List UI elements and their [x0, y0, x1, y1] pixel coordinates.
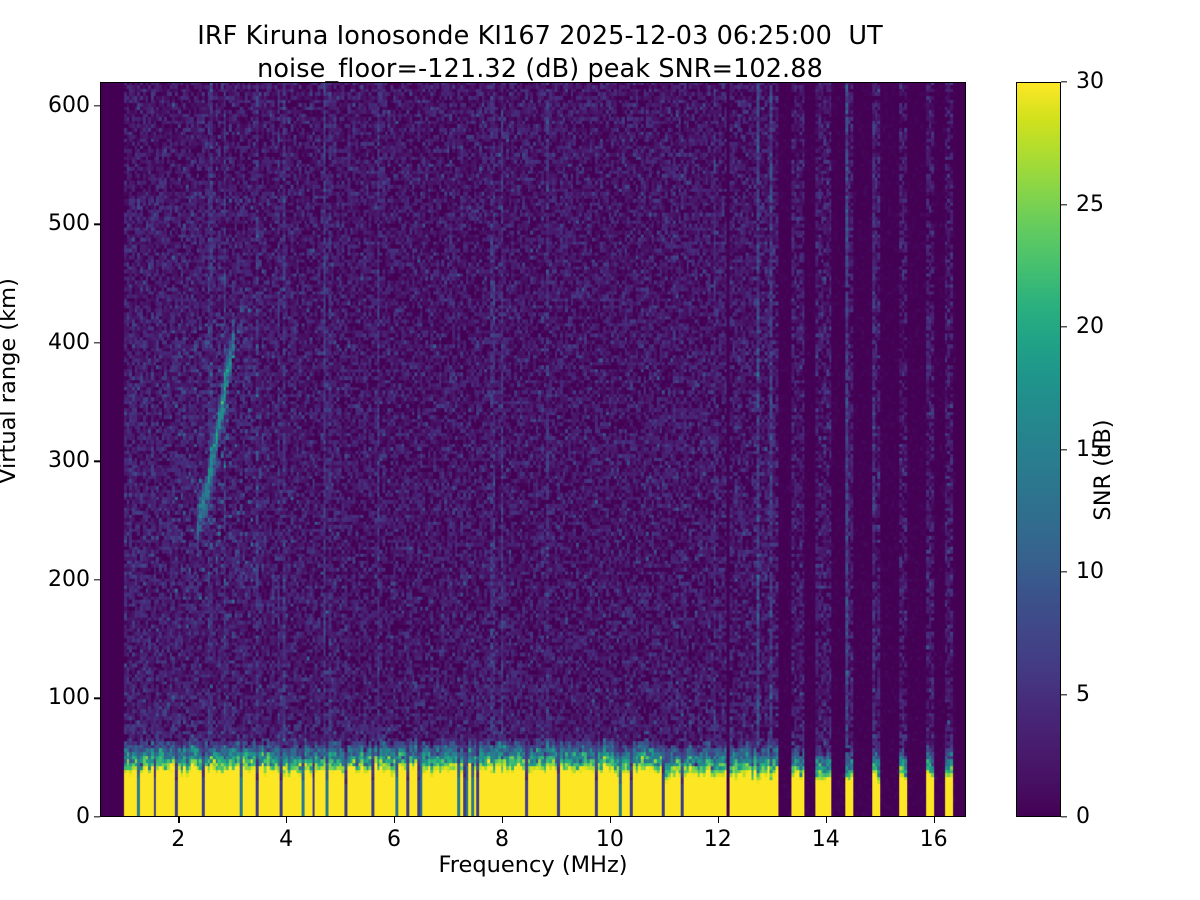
- x-tick-mark: [178, 817, 179, 823]
- y-tick-mark: [94, 816, 100, 817]
- x-tick-mark: [826, 817, 827, 823]
- colorbar-tick-mark: [1061, 694, 1067, 695]
- colorbar: [1016, 82, 1061, 817]
- colorbar-tick-mark: [1061, 204, 1067, 205]
- x-tick-mark: [502, 817, 503, 823]
- x-tick-label: 2: [143, 829, 213, 851]
- x-tick-label: 8: [467, 829, 537, 851]
- x-axis-label: Frequency (MHz): [100, 852, 966, 878]
- x-tick-mark: [286, 817, 287, 823]
- colorbar-tick-label: 5: [1076, 684, 1090, 706]
- x-tick-label: 4: [251, 829, 321, 851]
- y-tick-label: 600: [4, 95, 90, 117]
- x-tick-label: 6: [359, 829, 429, 851]
- x-tick-mark: [718, 817, 719, 823]
- y-tick-mark: [94, 105, 100, 106]
- colorbar-tick-label: 0: [1076, 806, 1090, 828]
- y-tick-mark: [94, 461, 100, 462]
- colorbar-tick-mark: [1061, 816, 1067, 817]
- x-tick-label: 12: [683, 829, 753, 851]
- y-tick-mark: [94, 698, 100, 699]
- y-tick-label: 100: [4, 687, 90, 709]
- colorbar-label: SNR (dB): [1090, 370, 1116, 570]
- x-tick-mark: [394, 817, 395, 823]
- colorbar-tick-mark: [1061, 449, 1067, 450]
- y-tick-mark: [94, 224, 100, 225]
- colorbar-tick-label: 20: [1076, 316, 1104, 338]
- x-tick-mark: [934, 817, 935, 823]
- colorbar-tick-label: 25: [1076, 194, 1104, 216]
- x-tick-label: 14: [791, 829, 861, 851]
- y-tick-mark: [94, 579, 100, 580]
- x-tick-mark: [610, 817, 611, 823]
- colorbar-tick-mark: [1061, 81, 1067, 82]
- title-line-1: IRF Kiruna Ionosonde KI167 2025-12-03 06…: [0, 20, 1080, 53]
- y-axis-label: Virtual range (km): [0, 151, 21, 611]
- figure-title: IRF Kiruna Ionosonde KI167 2025-12-03 06…: [0, 20, 1080, 86]
- colorbar-tick-label: 30: [1076, 71, 1104, 93]
- y-tick-label: 0: [4, 806, 90, 828]
- x-tick-label: 10: [575, 829, 645, 851]
- ionogram-figure: IRF Kiruna Ionosonde KI167 2025-12-03 06…: [0, 0, 1200, 900]
- x-tick-label: 16: [899, 829, 969, 851]
- y-tick-mark: [94, 342, 100, 343]
- ionogram-heatmap: [101, 83, 965, 816]
- ionogram-axes: [100, 82, 966, 817]
- colorbar-tick-mark: [1061, 571, 1067, 572]
- colorbar-tick-mark: [1061, 326, 1067, 327]
